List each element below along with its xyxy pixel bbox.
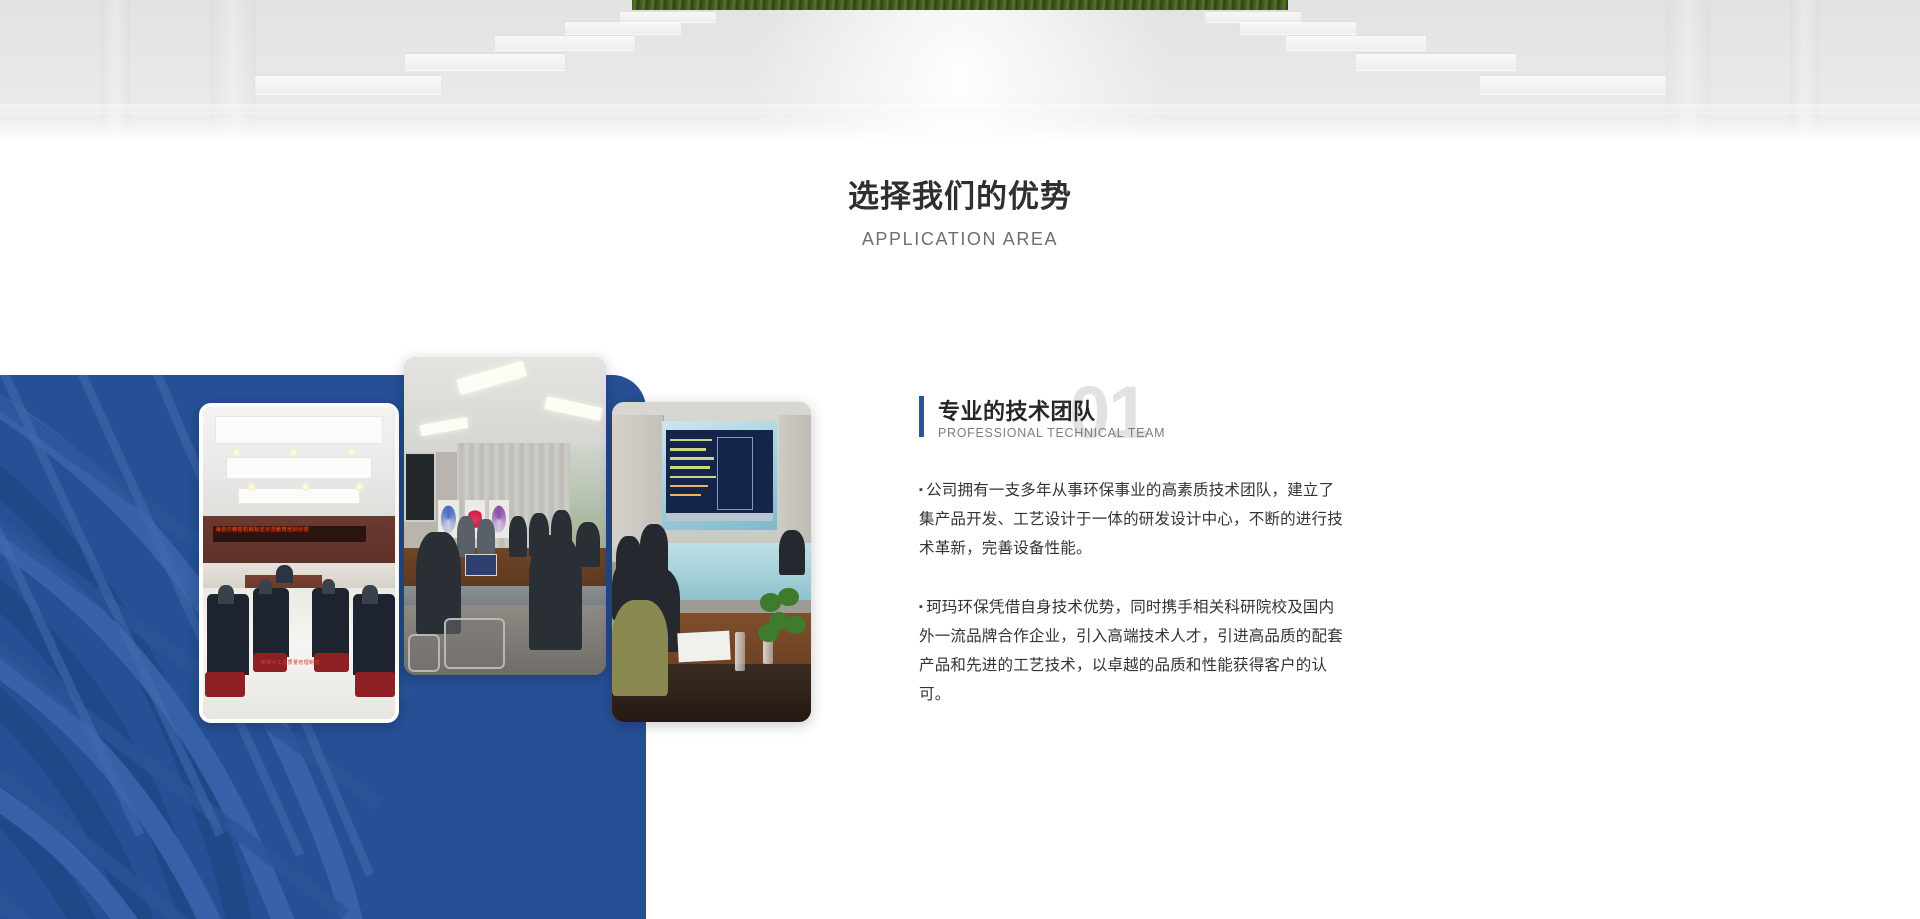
projector-screen (662, 421, 777, 530)
seat-back (353, 594, 395, 675)
stair-block (1356, 54, 1516, 70)
photo-projector-presentation[interactable] (612, 402, 811, 722)
led-banner: 海自尔精密机械标志示范教育培训示范 (213, 526, 367, 542)
seat-cushion (355, 672, 395, 697)
stair-block (565, 22, 681, 34)
plant-leaf-icon (785, 616, 806, 634)
photo-meeting-room[interactable] (404, 357, 606, 675)
led-banner-text: 海自尔精密机械标志示范教育培训示范 (213, 526, 367, 535)
stair-block (1205, 12, 1301, 22)
chair (444, 618, 505, 669)
audience-head (259, 579, 272, 595)
ceiling-panel (215, 416, 384, 444)
audience-head (218, 585, 233, 604)
feature-paragraph-text: 公司拥有一支多年从事环保事业的高素质技术团队，建立了集产品开发、工艺设计于一体的… (919, 482, 1343, 557)
audience-head (322, 579, 335, 595)
feature-paragraph-text: 珂玛环保凭借自身技术优势，同时携手相关科研院校及国内外一流品牌合作企业，引入高端… (919, 599, 1343, 703)
section-header: 选择我们的优势 APPLICATION AREA (0, 141, 1920, 375)
floor-reflection-text: 精细化工品质量管理制度 (261, 659, 320, 666)
stair-block (1286, 36, 1426, 50)
page-subtitle: APPLICATION AREA (0, 229, 1920, 250)
bullet-icon: ▪ (919, 484, 923, 496)
cabinet (779, 415, 811, 549)
stair-block (1480, 76, 1666, 94)
documents (677, 631, 730, 662)
poster-emblem-icon (441, 506, 455, 533)
ceiling-light-icon (301, 482, 310, 491)
whiteboard (404, 452, 436, 522)
stair-block (620, 12, 716, 22)
ceiling-light-icon (247, 482, 256, 491)
seat-back (207, 594, 249, 675)
stair-block (255, 76, 441, 94)
attendee-foreground (529, 535, 582, 649)
feature-paragraph: ▪公司拥有一支多年从事环保事业的高素质技术团队，建立了集产品开发、工艺设计于一体… (919, 476, 1347, 563)
audience-head (362, 585, 377, 604)
screen-taskbar (666, 513, 772, 521)
attendee (457, 516, 475, 557)
stair-block (1240, 22, 1356, 34)
stair-block (405, 54, 565, 70)
ceiling-light-icon (347, 448, 356, 457)
ceiling-light-icon (355, 482, 364, 491)
feature-title: 专业的技术团队 (938, 394, 1096, 426)
banner-bottom-fade (0, 107, 1920, 141)
stair-block (495, 36, 635, 50)
ceiling-light-icon (232, 448, 241, 457)
screen-text-line (670, 494, 702, 496)
plant-leaf-icon (758, 624, 779, 642)
feature-heading: 01 专业的技术团队 PROFESSIONAL TECHNICAL TEAM (919, 394, 1359, 450)
ceiling-light-icon (289, 448, 298, 457)
seat-back (253, 588, 289, 657)
presentation-scene (612, 402, 811, 722)
page-title: 选择我们的优势 (0, 178, 1920, 217)
ceiling-panel (238, 488, 361, 504)
presenter (779, 530, 805, 575)
accent-bar (919, 396, 924, 437)
screen-text-line (670, 476, 717, 478)
plant-leaf-icon (778, 588, 799, 606)
potted-plant (755, 588, 807, 658)
ceiling-panel (226, 457, 372, 479)
auditorium-scene: 海自尔精密机械标志示范教育培训示范 精细化工品质量管理制度 (203, 407, 395, 719)
feature-subtitle: PROFESSIONAL TECHNICAL TEAM (938, 426, 1165, 440)
screen-text-line (670, 457, 715, 459)
hero-banner (0, 0, 1920, 141)
photo-auditorium[interactable]: 海自尔精密机械标志示范教育培训示范 精细化工品质量管理制度 (199, 403, 399, 723)
meeting-room-scene (404, 357, 606, 675)
chair (408, 634, 440, 672)
attendee (640, 524, 668, 575)
stage-backdrop (203, 516, 395, 569)
laptop (465, 554, 497, 576)
feature-content: 01 专业的技术团队 PROFESSIONAL TECHNICAL TEAM ▪… (919, 394, 1359, 709)
seated-person (276, 565, 293, 584)
feature-paragraph: ▪珂玛环保凭借自身技术优势，同时携手相关科研院校及国内外一流品牌合作企业，引入高… (919, 593, 1347, 709)
screen-text-line (670, 466, 710, 468)
attendee (509, 516, 527, 557)
projected-software-window (666, 430, 772, 521)
water-bottle (735, 632, 745, 670)
seat-back (312, 588, 348, 657)
attendee-khaki-coat (612, 600, 668, 696)
attendee (477, 519, 495, 557)
green-hedge-strip (632, 0, 1288, 10)
seat-cushion (205, 672, 245, 697)
screen-text-line (670, 485, 708, 487)
screen-text-line (670, 448, 706, 450)
screen-text-line (670, 439, 712, 441)
bullet-icon: ▪ (919, 601, 923, 613)
screen-data-grid (717, 437, 753, 510)
